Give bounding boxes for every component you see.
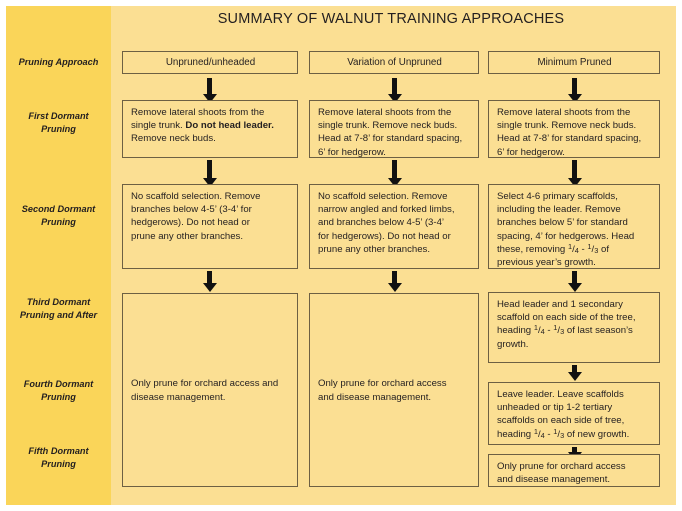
cell-line: 6’ for hedgerow. — [318, 146, 471, 159]
row-label-first-dormant: First DormantPruning — [6, 110, 111, 135]
cell-text-plain: heading — [497, 429, 534, 440]
cell-line: Remove lateral shoots from the — [131, 106, 290, 119]
fraction-numerator: 1 — [534, 323, 538, 332]
arrow-col2-header-to-first — [392, 78, 397, 95]
cell-line: and disease management. — [318, 391, 471, 404]
fraction-one-third: 1/3 — [553, 324, 564, 337]
cell-line: 6’ for hedgerow. — [497, 146, 652, 159]
row-label-third-dormant: Third DormantPruning and After — [6, 296, 111, 321]
column-header-minimum-pruned[interactable]: Minimum Pruned — [488, 51, 660, 74]
cell-line: these, removing 1/4 - 1/3 of — [497, 243, 652, 256]
cell-line: heading 1/4 - 1/3 of new growth. — [497, 428, 652, 441]
cell-line: Remove lateral shoots from the — [318, 106, 471, 119]
cell-line: single trunk. Do not head leader. — [131, 119, 290, 132]
cell-line: unheaded or tip 1-2 tertiary — [497, 401, 652, 414]
fraction-one-third: 1/3 — [553, 428, 564, 441]
cell-line: Head leader and 1 secondary — [497, 298, 652, 311]
cell-line: previous year’s growth. — [497, 256, 652, 269]
cell-line: including the leader. Remove — [497, 203, 652, 216]
cell-line: scaffolds on each side of tree, — [497, 414, 652, 427]
cell-col3-third-dormant[interactable]: Head leader and 1 secondary scaffold on … — [488, 292, 660, 363]
cell-line: scaffold on each side of the tree, — [497, 311, 652, 324]
cell-text-plain: of last season’s — [564, 325, 633, 336]
cell-line: No scaffold selection. Remove — [131, 190, 290, 203]
cell-line: branches below 5’ for standard — [497, 216, 652, 229]
cell-col1-first-dormant[interactable]: Remove lateral shoots from the single tr… — [122, 100, 298, 158]
cell-col2-first-dormant[interactable]: Remove lateral shoots from the single tr… — [309, 100, 479, 158]
row-label-fourth-dormant: Fourth DormantPruning — [6, 378, 111, 403]
cell-line: prune any other branches. — [131, 230, 290, 243]
cell-line: Select 4-6 primary scaffolds, — [497, 190, 652, 203]
column-header-label: Variation of Unpruned — [347, 57, 442, 68]
arrow-col3-third-to-fourth — [572, 365, 577, 373]
cell-col2-third-fourth-fifth-dormant[interactable]: Only prune for orchard access and diseas… — [309, 293, 479, 487]
cell-col3-second-dormant[interactable]: Select 4-6 primary scaffolds, including … — [488, 184, 660, 269]
cell-line: Remove lateral shoots from the — [497, 106, 652, 119]
fraction-one-quarter: 1/4 — [534, 324, 545, 337]
arrow-col3-second-to-third — [572, 271, 577, 284]
cell-line: narrow angled and forked limbs, — [318, 203, 471, 216]
arrow-col3-fourth-to-fifth — [572, 447, 577, 453]
cell-text-plain: single trunk. — [131, 120, 185, 131]
cell-text-plain: - — [545, 325, 554, 336]
arrow-col2-second-to-tall — [392, 271, 397, 284]
cell-text-plain: these, removing — [497, 244, 568, 255]
fraction-one-quarter: 1/4 — [568, 243, 579, 256]
column-header-label: Minimum Pruned — [537, 57, 611, 68]
cell-line: Only prune for orchard access and — [131, 377, 290, 390]
cell-line: Remove neck buds. — [131, 132, 290, 145]
cell-text-plain: of new growth. — [564, 429, 629, 440]
arrow-col1-header-to-first — [207, 78, 212, 95]
row-label-band — [6, 6, 111, 505]
cell-line: growth. — [497, 338, 652, 351]
cell-line: heading 1/4 - 1/3 of last season’s — [497, 324, 652, 337]
cell-line: branches below 4-5’ (3-4’ for — [131, 203, 290, 216]
cell-line: disease management. — [131, 391, 290, 404]
arrow-col1-first-to-second — [207, 160, 212, 179]
cell-line: single trunk. Remove neck buds. — [318, 119, 471, 132]
cell-line: and disease management. — [497, 473, 652, 486]
cell-text-plain: of — [598, 244, 609, 255]
row-label-fifth-dormant: Fifth DormantPruning — [6, 445, 111, 470]
fraction-one-third: 1/3 — [587, 243, 598, 256]
cell-line: Only prune for orchard access — [318, 377, 471, 390]
page-title: SUMMARY OF WALNUT TRAINING APPROACHES — [111, 11, 671, 27]
cell-line: Leave leader. Leave scaffolds — [497, 388, 652, 401]
fraction-denominator: 3 — [560, 431, 564, 440]
cell-line: and branches below 4-5’ (3-4’ — [318, 216, 471, 229]
cell-text-plain: heading — [497, 325, 534, 336]
cell-text-bold: Do not head leader. — [185, 120, 274, 131]
fraction-one-quarter: 1/4 — [534, 428, 545, 441]
cell-col1-second-dormant[interactable]: No scaffold selection. Remove branches b… — [122, 184, 298, 269]
cell-line: prune any other branches. — [318, 243, 471, 256]
fraction-denominator: 4 — [541, 327, 545, 336]
arrow-col3-header-to-first — [572, 78, 577, 95]
cell-line: Only prune for orchard access — [497, 460, 652, 473]
cell-col3-first-dormant[interactable]: Remove lateral shoots from the single tr… — [488, 100, 660, 158]
row-label-second-dormant: Second DormantPruning — [6, 203, 111, 228]
cell-col2-second-dormant[interactable]: No scaffold selection. Remove narrow ang… — [309, 184, 479, 269]
cell-line: Head at 7-8’ for standard spacing, — [318, 132, 471, 145]
fraction-numerator: 1 — [568, 242, 572, 251]
cell-line: spacing, 4’ for hedgerows. Head — [497, 230, 652, 243]
cell-col1-third-fourth-fifth-dormant[interactable]: Only prune for orchard access and diseas… — [122, 293, 298, 487]
diagram-canvas: SUMMARY OF WALNUT TRAINING APPROACHES Pr… — [0, 0, 682, 511]
cell-line: Head at 7-8’ for standard spacing, — [497, 132, 652, 145]
cell-text-plain: - — [545, 429, 554, 440]
cell-line: hedgerows). Do not head or — [131, 216, 290, 229]
arrow-col1-second-to-tall — [207, 271, 212, 284]
cell-line: No scaffold selection. Remove — [318, 190, 471, 203]
cell-col3-fourth-dormant[interactable]: Leave leader. Leave scaffolds unheaded o… — [488, 382, 660, 445]
column-header-unpruned-unheaded[interactable]: Unpruned/unheaded — [122, 51, 298, 74]
fraction-numerator: 1 — [553, 323, 557, 332]
cell-line: for hedgerows). Do not head or — [318, 230, 471, 243]
cell-line: single trunk. Remove neck buds. — [497, 119, 652, 132]
column-header-label: Unpruned/unheaded — [166, 57, 255, 68]
cell-col3-fifth-dormant[interactable]: Only prune for orchard access and diseas… — [488, 454, 660, 487]
fraction-numerator: 1 — [553, 427, 557, 436]
fraction-numerator: 1 — [587, 242, 591, 251]
column-header-variation-of-unpruned[interactable]: Variation of Unpruned — [309, 51, 479, 74]
fraction-denominator: 3 — [594, 246, 598, 255]
fraction-denominator: 4 — [575, 246, 579, 255]
fraction-numerator: 1 — [534, 427, 538, 436]
fraction-denominator: 4 — [541, 431, 545, 440]
arrow-col3-first-to-second — [572, 160, 577, 179]
arrow-col2-first-to-second — [392, 160, 397, 179]
row-label-pruning-approach: Pruning Approach — [6, 56, 111, 69]
fraction-denominator: 3 — [560, 327, 564, 336]
